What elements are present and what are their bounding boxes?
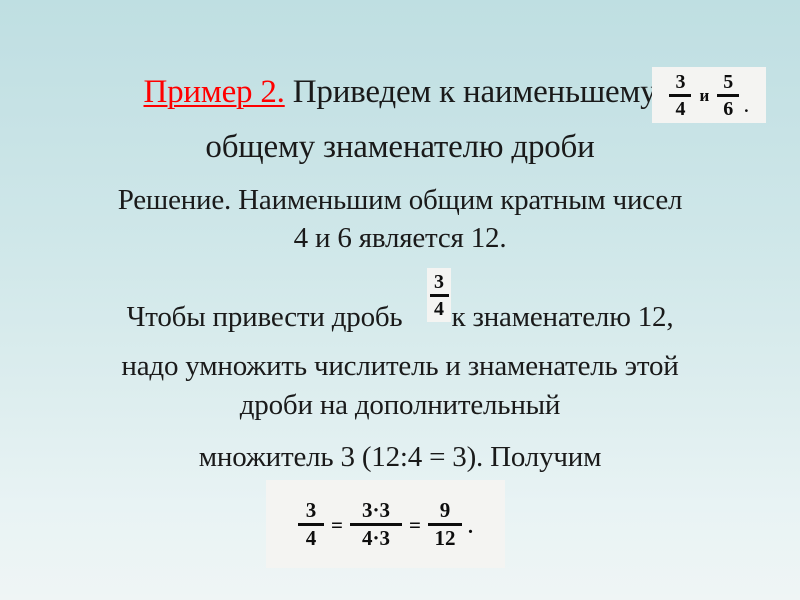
fraction-single-image: 3 4 <box>427 268 451 322</box>
equals-sign-2: = <box>402 513 428 538</box>
solution-line-1: Решение. Наименьшим общим кратным чисел <box>0 186 800 215</box>
period-mark: . <box>739 97 748 123</box>
fraction-denominator: 4 <box>432 299 446 319</box>
convert-text-after: к знаменателю 12, <box>452 301 674 333</box>
formula-row: 3 4 = 3·3 4·3 = 9 12 . <box>298 500 473 549</box>
conjunction-and: и <box>691 86 717 106</box>
fraction-pair-image: 3 4 и 5 6 . <box>652 67 766 123</box>
fraction-numerator: 3 <box>673 72 687 92</box>
fraction-denominator: 6 <box>721 99 735 119</box>
fraction-bar <box>669 94 691 97</box>
fraction-numerator: 9 <box>438 500 453 521</box>
fraction-three-fourths: 3 4 <box>430 272 449 319</box>
fraction-denominator: 12 <box>432 528 457 549</box>
fraction-denominator: 4 <box>304 528 319 549</box>
heading-line-2: общему знаменателю дроби <box>0 131 800 164</box>
multiply-line-3: множитель 3 (12:4 = 3). Получим <box>0 443 800 472</box>
formula-fraction-2: 3·3 4·3 <box>350 500 402 549</box>
period-mark: . <box>462 516 473 549</box>
slide-canvas: Пример 2. Приведем к наименьшему общему … <box>0 0 800 600</box>
convert-line: Чтобы привести дробь к знаменателю 12, <box>0 303 800 332</box>
formula-fraction-1: 3 4 <box>298 500 324 549</box>
fraction-numerator: 3 <box>304 500 319 521</box>
fraction-numerator: 3·3 <box>360 500 392 521</box>
example-label: Пример 2. <box>144 74 285 110</box>
fraction-denominator: 4 <box>673 99 687 119</box>
equals-sign-1: = <box>324 513 350 538</box>
fraction-five-sixths: 5 6 <box>717 72 739 119</box>
formula-image: 3 4 = 3·3 4·3 = 9 12 . <box>266 480 505 568</box>
fraction-bar <box>430 294 449 297</box>
formula-fraction-3: 9 12 <box>428 500 462 549</box>
fraction-denominator: 4·3 <box>360 528 392 549</box>
multiply-line-1: надо умножить числитель и знаменатель эт… <box>0 352 800 381</box>
multiply-line-2: дроби на дополнительный <box>0 391 800 420</box>
fraction-numerator: 3 <box>432 272 446 292</box>
fraction-three-fourths: 3 4 <box>669 72 691 119</box>
fraction-bar <box>717 94 739 97</box>
convert-text-before: Чтобы привести дробь <box>127 301 403 333</box>
fraction-numerator: 5 <box>721 72 735 92</box>
solution-line-2: 4 и 6 является 12. <box>0 224 800 253</box>
heading-line-1-rest: Приведем к наименьшему <box>285 74 657 110</box>
